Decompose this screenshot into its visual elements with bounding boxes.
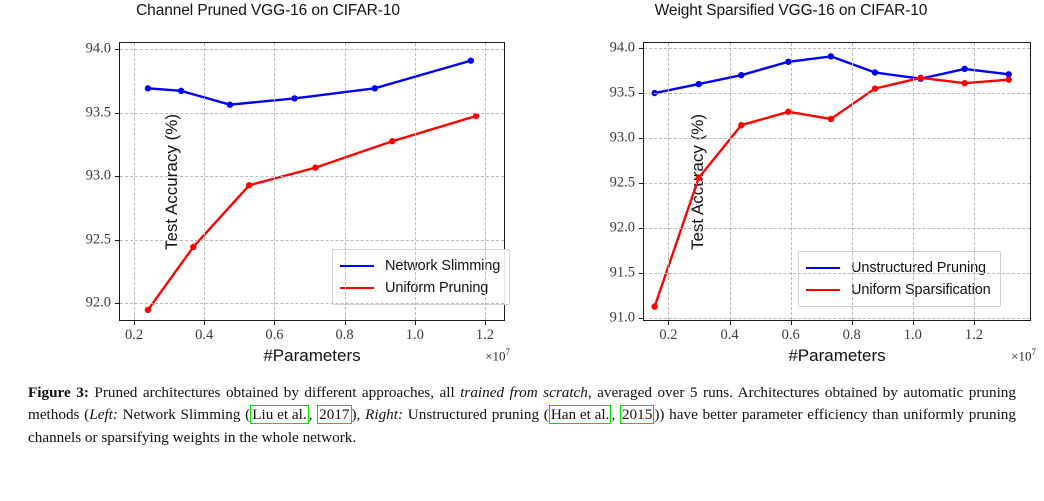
x-tick-mark [485,320,486,325]
data-point [178,88,184,94]
y-gridline [644,183,1030,184]
caption-text-4: ), [352,406,366,423]
y-tick-label: 94.0 [86,41,111,58]
chart-title-left: Channel Pruned VGG-16 on CIFAR-10 [0,2,522,20]
data-point [961,66,967,72]
y-tick-mark [115,303,120,304]
x-tick-mark [791,320,792,325]
x-tick-mark [274,320,275,325]
plot-area-left: Test Accuracy (%) #Parameters ×107 Netwo… [119,42,505,321]
x-tick-label: 0.4 [720,327,738,344]
data-point [473,113,479,119]
caption-cite-sep-2: , [611,406,620,423]
y-tick-mark [639,273,644,274]
y-gridline [644,273,1030,274]
x-tick-mark [730,320,731,325]
x-tick-label: 1.0 [406,327,424,344]
caption-italic-left: Left: [89,406,118,423]
y-gridline [120,240,504,241]
data-point [190,244,196,250]
y-gridline [644,318,1030,319]
caption-figure-label: Figure 3: [28,384,89,401]
x-tick-mark [345,320,346,325]
legend-swatch-uniform-sparsification [806,289,840,291]
legend-label-uniform-sparsification: Uniform Sparsification [851,282,991,298]
x-tick-label: 0.6 [782,327,800,344]
y-tick-label: 92.5 [86,231,111,248]
x-axis-label-right: #Parameters [644,346,1030,366]
x-gridline [274,43,275,320]
x-tick-mark [668,320,669,325]
x-tick-mark [913,320,914,325]
chart-title-right: Weight Sparsified VGG-16 on CIFAR-10 [522,2,1044,20]
x-tick-label: 0.6 [265,327,283,344]
x-gridline [134,43,135,320]
figure-3: Channel Pruned VGG-16 on CIFAR-10 Test A… [0,0,1044,378]
data-point [696,81,702,87]
caption-text-5: Unstructured pruning ( [403,406,549,423]
data-point [145,307,151,313]
y-tick-mark [115,113,120,114]
data-point [227,102,233,108]
y-tick-label: 92.0 [86,294,111,311]
legend-label-network-slimming: Network Slimming [385,258,500,274]
y-gridline [644,138,1030,139]
data-point [651,303,657,309]
legend-item: Unstructured Pruning [806,257,991,279]
x-axis-exponent-left: ×107 [485,347,510,364]
y-tick-mark [115,176,120,177]
citation-link-liu-2017[interactable]: Liu et al. [250,405,308,424]
legend-label-unstructured-pruning: Unstructured Pruning [851,260,986,276]
y-tick-mark [115,240,120,241]
citation-link-han-2015[interactable]: Han et al. [549,405,612,424]
x-gridline [415,43,416,320]
y-tick-mark [115,49,120,50]
chart-panel-left: Channel Pruned VGG-16 on CIFAR-10 Test A… [0,0,522,378]
y-tick-mark [639,93,644,94]
data-point [246,182,252,188]
x-tick-label: 1.2 [965,327,983,344]
legend-swatch-unstructured-pruning [806,267,840,269]
caption-text-1: Pruned architectures obtained by differe… [89,384,460,401]
data-point [828,116,834,122]
data-point [738,122,744,128]
data-point [468,57,474,63]
caption-italic-1: trained from scratch [460,384,588,401]
y-tick-mark [639,318,644,319]
data-point [872,69,878,75]
y-tick-label: 93.0 [86,168,111,185]
data-point [961,80,967,86]
x-tick-label: 1.0 [904,327,922,344]
x-axis-label-left: #Parameters [120,346,504,366]
plot-area-right: Test Accuracy (%) #Parameters ×107 Unstr… [643,42,1031,321]
data-point [312,164,318,170]
x-tick-label: 0.2 [125,327,143,344]
y-tick-label: 93.5 [610,84,635,101]
x-gridline [204,43,205,320]
legend-item: Uniform Pruning [340,277,500,299]
y-tick-mark [639,228,644,229]
data-point [828,53,834,59]
y-tick-label: 91.0 [610,309,635,326]
legend-left: Network Slimming Uniform Pruning [332,249,510,305]
data-point [372,85,378,91]
caption-text-3: Network Slimming ( [118,406,250,423]
y-tick-label: 93.5 [86,104,111,121]
citation-year-2015[interactable]: 2015 [620,405,654,424]
data-point [917,75,923,81]
data-point [389,138,395,144]
y-gridline [644,228,1030,229]
series-line-0 [655,56,1009,93]
y-tick-label: 93.0 [610,129,635,146]
x-tick-mark [852,320,853,325]
caption-italic-right: Right: [365,406,403,423]
x-gridline [730,43,731,320]
x-gridline [852,43,853,320]
x-gridline [913,43,914,320]
y-tick-label: 91.5 [610,264,635,281]
data-point [145,85,151,91]
x-tick-mark [415,320,416,325]
figure-caption: Figure 3: Pruned architectures obtained … [28,382,1016,449]
y-tick-mark [639,183,644,184]
x-gridline [668,43,669,320]
y-tick-mark [639,48,644,49]
y-tick-label: 92.0 [610,219,635,236]
x-gridline [345,43,346,320]
x-tick-mark [134,320,135,325]
y-gridline [120,176,504,177]
x-gridline [974,43,975,320]
x-tick-mark [204,320,205,325]
x-tick-label: 0.2 [659,327,677,344]
data-point [738,72,744,78]
y-gridline [644,93,1030,94]
x-gridline [791,43,792,320]
legend-label-uniform-pruning: Uniform Pruning [385,280,488,296]
x-tick-label: 0.4 [195,327,213,344]
legend-item: Uniform Sparsification [806,279,991,301]
y-tick-mark [639,138,644,139]
y-gridline [120,303,504,304]
caption-cite-sep-1: , [309,406,318,423]
legend-right: Unstructured Pruning Uniform Sparsificat… [798,251,1001,307]
y-gridline [120,49,504,50]
x-tick-label: 1.2 [476,327,494,344]
y-gridline [644,48,1030,49]
chart-panel-right: Weight Sparsified VGG-16 on CIFAR-10 Tes… [522,0,1044,378]
y-tick-label: 94.0 [610,39,635,56]
x-axis-exponent-right: ×107 [1011,347,1036,364]
x-gridline [485,43,486,320]
y-gridline [120,113,504,114]
x-tick-label: 0.8 [843,327,861,344]
series-line-0 [148,61,471,105]
legend-item: Network Slimming [340,255,500,277]
x-tick-mark [974,320,975,325]
data-point [1006,76,1012,82]
citation-year-2017[interactable]: 2017 [317,405,351,424]
x-tick-label: 0.8 [336,327,354,344]
data-point [291,95,297,101]
y-tick-label: 92.5 [610,174,635,191]
data-point [696,175,702,181]
data-point [872,85,878,91]
